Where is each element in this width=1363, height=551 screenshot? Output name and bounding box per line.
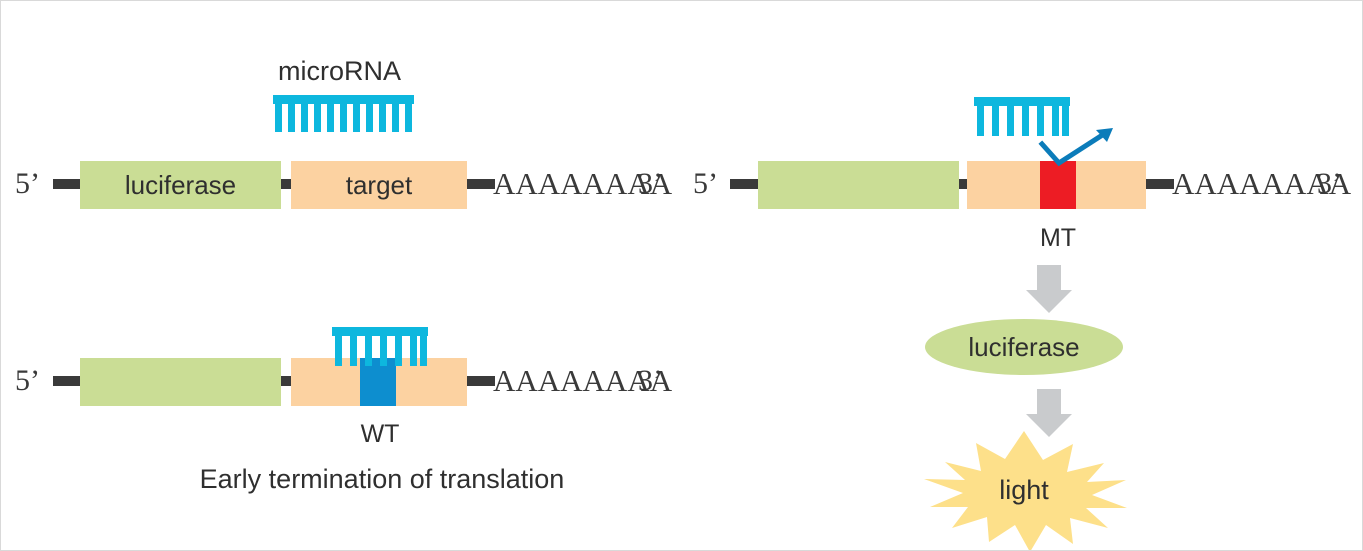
luciferase-box-left-bottom — [80, 358, 281, 406]
light-burst-label: light — [954, 473, 1094, 507]
strand-5prime-right — [730, 179, 760, 189]
five-prime-label-left-bottom: 5’ — [15, 366, 40, 396]
strand-3prime-right — [1144, 179, 1174, 189]
five-prime-label-right: 5’ — [693, 169, 718, 199]
arrow-to-light-icon — [1026, 389, 1072, 437]
three-prime-label-left-top: 3’ — [638, 169, 663, 199]
target-box-label-left-top: target — [291, 161, 467, 209]
strand-3prime-left-bottom — [465, 376, 495, 386]
strand-5prime-left-top — [53, 179, 83, 189]
three-prime-label-left-bottom: 3’ — [638, 366, 663, 396]
figure-canvas: 5’ luciferase target AAAAAAAA 3’ microRN… — [0, 0, 1363, 551]
microrna-comb-right — [974, 97, 1070, 136]
wt-site-label: WT — [330, 419, 430, 449]
left-bottom-construct — [53, 327, 495, 406]
five-prime-label-left-top: 5’ — [15, 169, 40, 199]
luciferase-ellipse-label: luciferase — [925, 319, 1123, 375]
right-construct — [730, 97, 1174, 209]
microrna-label: microRNA — [278, 58, 401, 85]
microrna-comb-top-left — [273, 95, 414, 132]
right-flow — [924, 265, 1127, 551]
strand-5prime-left-bottom — [53, 376, 83, 386]
mt-site-block — [1040, 161, 1076, 209]
three-prime-label-right: 3’ — [1317, 169, 1342, 199]
arrow-to-luciferase-icon — [1026, 265, 1072, 313]
luciferase-box-label-left-top: luciferase — [80, 161, 281, 209]
strand-3prime-left-top — [465, 179, 495, 189]
mt-site-label: MT — [1008, 223, 1108, 253]
luciferase-box-right — [758, 161, 959, 209]
bounce-arrow-icon — [1042, 134, 1104, 163]
early-termination-caption: Early termination of translation — [132, 463, 632, 495]
